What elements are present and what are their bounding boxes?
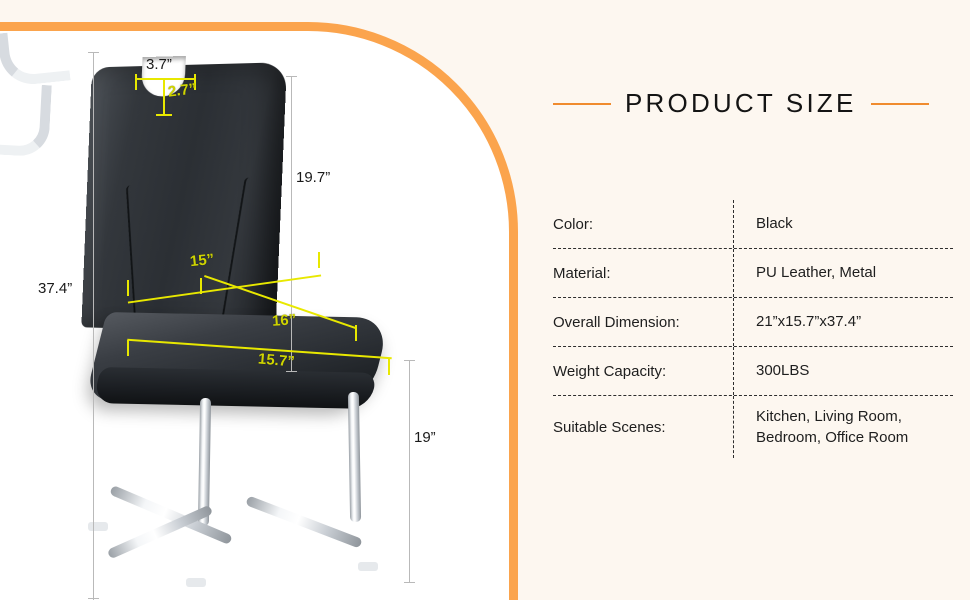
backrest-stitch-right — [219, 177, 250, 336]
dim-label-seat-diagonal: 16” — [271, 311, 296, 330]
chair-glide-right — [358, 562, 378, 571]
spec-value-material: PU Leather, Metal — [734, 262, 953, 283]
backrest-stitch-left — [126, 185, 140, 333]
dim-label-seat-depth: 15” — [189, 251, 215, 270]
title-rule-left — [553, 103, 611, 105]
seat-height-cap-bottom — [404, 582, 415, 583]
spec-value-overall-dimension: 21”x15.7”x37.4” — [734, 311, 953, 332]
spec-table: Color: Black Material: PU Leather, Metal… — [553, 200, 953, 458]
backrest-height-cap-bottom — [286, 371, 297, 372]
table-row: Overall Dimension: 21”x15.7”x37.4” — [553, 298, 953, 347]
overall-height-cap-bottom — [88, 598, 99, 599]
table-row: Color: Black — [553, 200, 953, 249]
spec-value-color: Black — [734, 213, 953, 234]
seat-diagonal-tick-end — [355, 325, 357, 341]
chair-glide-front — [186, 578, 206, 587]
product-photo: 3.7” 2.7” 19.7” 37.4” 15” 16” 15.7” — [0, 30, 503, 600]
seat-height-cap-top — [404, 360, 415, 361]
seat-depth-tick-left — [127, 280, 129, 296]
table-row: Suitable Scenes: Kitchen, Living Room, B… — [553, 396, 953, 458]
dim-label-handle-width: 3.7” — [146, 56, 172, 73]
dim-label-seat-width: 15.7” — [257, 350, 295, 370]
table-row: Weight Capacity: 300LBS — [553, 347, 953, 396]
dim-label-backrest-height: 19.7” — [296, 169, 330, 186]
handle-depth-tick-bottom — [156, 114, 172, 116]
handle-width-tick-left — [135, 74, 137, 90]
dim-label-overall-height: 37.4” — [38, 280, 72, 297]
page-title: PRODUCT SIZE — [553, 88, 953, 119]
dim-label-seat-height: 19” — [414, 429, 436, 446]
spec-value-weight-capacity: 300LBS — [734, 360, 953, 381]
spec-key-material: Material: — [553, 265, 733, 282]
overall-height-cap-top — [88, 52, 99, 53]
seat-width-tick-right — [388, 359, 390, 375]
product-size-page: 3.7” 2.7” 19.7” 37.4” 15” 16” 15.7” — [0, 0, 970, 600]
overall-height-line — [93, 52, 94, 600]
chair-glide-left — [88, 522, 108, 531]
chair-seat-front-edge — [92, 367, 378, 409]
seat-height-line — [409, 360, 410, 582]
title-text: PRODUCT SIZE — [625, 88, 857, 119]
dim-label-handle-depth: 2.7” — [167, 80, 197, 100]
chair-base-rail-back — [245, 495, 362, 548]
title-rule-right — [871, 103, 929, 105]
seat-depth-tick-right — [318, 252, 320, 268]
chair-base-curve-left — [0, 30, 71, 87]
spec-key-weight-capacity: Weight Capacity: — [553, 363, 733, 380]
table-row: Material: PU Leather, Metal — [553, 249, 953, 298]
handle-depth-tick-top — [156, 78, 172, 80]
seat-diagonal-tick-start — [200, 278, 202, 294]
spec-key-overall-dimension: Overall Dimension: — [553, 314, 733, 331]
chair-leg-back — [348, 392, 361, 522]
spec-key-color: Color: — [553, 216, 733, 233]
handle-depth-line — [163, 78, 165, 116]
chair-base-rail-front — [109, 485, 233, 545]
backrest-height-cap-top — [286, 76, 297, 77]
info-panel: PRODUCT SIZE Color: Black Material: PU L… — [518, 0, 970, 600]
seat-width-tick-left — [127, 340, 129, 356]
chair-base-curve-right — [0, 83, 52, 158]
spec-value-suitable-scenes: Kitchen, Living Room, Bedroom, Office Ro… — [734, 406, 953, 449]
spec-key-suitable-scenes: Suitable Scenes: — [553, 419, 733, 436]
